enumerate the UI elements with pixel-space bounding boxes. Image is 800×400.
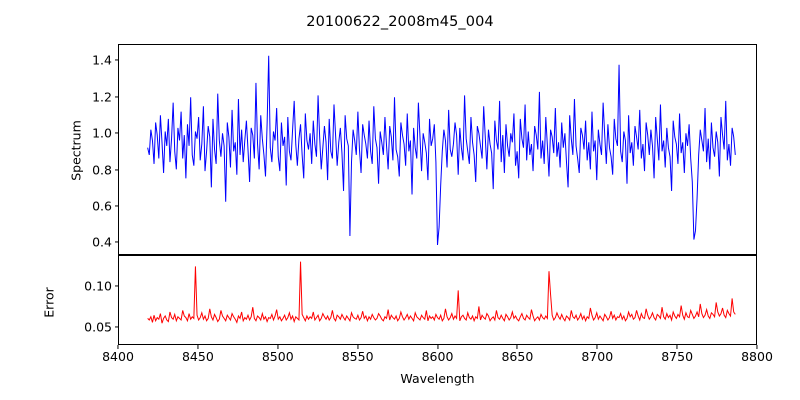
y-tick-label-spectrum: 1.2 <box>66 89 112 104</box>
x-tick-mark <box>197 345 198 349</box>
x-tick-label: 8650 <box>501 349 533 364</box>
x-tick-mark <box>357 345 358 349</box>
y-tick-mark-spectrum <box>115 205 119 206</box>
x-tick-label: 8750 <box>661 349 693 364</box>
error-panel <box>118 255 757 345</box>
spectrum-plot-area <box>119 45 756 254</box>
y-tick-label-error: 0.05 <box>66 320 112 335</box>
x-tick-label: 8800 <box>741 349 773 364</box>
error-plot-area <box>119 256 756 344</box>
y-tick-label-spectrum: 0.8 <box>66 162 112 177</box>
chart-title: 20100622_2008m45_004 <box>0 14 800 30</box>
y-tick-label-error: 0.10 <box>66 279 112 294</box>
x-tick-mark <box>756 345 757 349</box>
figure: 20100622_2008m45_004 Spectrum Error 0.40… <box>0 0 800 400</box>
x-tick-mark <box>677 345 678 349</box>
spectrum-data-line <box>148 56 736 245</box>
x-tick-label: 8550 <box>342 349 374 364</box>
y-tick-mark-spectrum <box>115 169 119 170</box>
x-tick-mark <box>517 345 518 349</box>
y-tick-mark-spectrum <box>115 60 119 61</box>
y-axis-label-error: Error <box>41 263 56 343</box>
y-tick-mark-spectrum <box>115 242 119 243</box>
y-tick-mark-error <box>115 326 119 327</box>
error-data-line <box>148 262 736 324</box>
y-tick-label-spectrum: 1.4 <box>66 53 112 68</box>
y-tick-mark-spectrum <box>115 133 119 134</box>
y-tick-label-spectrum: 0.6 <box>66 198 112 213</box>
x-tick-label: 8600 <box>422 349 454 364</box>
x-tick-label: 8500 <box>262 349 294 364</box>
spectrum-panel <box>118 44 757 255</box>
x-tick-mark <box>597 345 598 349</box>
x-tick-label: 8400 <box>102 349 134 364</box>
x-tick-mark <box>437 345 438 349</box>
y-tick-label-spectrum: 0.4 <box>66 235 112 250</box>
x-tick-label: 8700 <box>581 349 613 364</box>
x-tick-label: 8450 <box>182 349 214 364</box>
y-tick-label-spectrum: 1.0 <box>66 126 112 141</box>
x-tick-mark <box>117 345 118 349</box>
x-axis-label: Wavelength <box>118 371 757 386</box>
y-tick-mark-error <box>115 286 119 287</box>
y-tick-mark-spectrum <box>115 96 119 97</box>
x-tick-mark <box>277 345 278 349</box>
